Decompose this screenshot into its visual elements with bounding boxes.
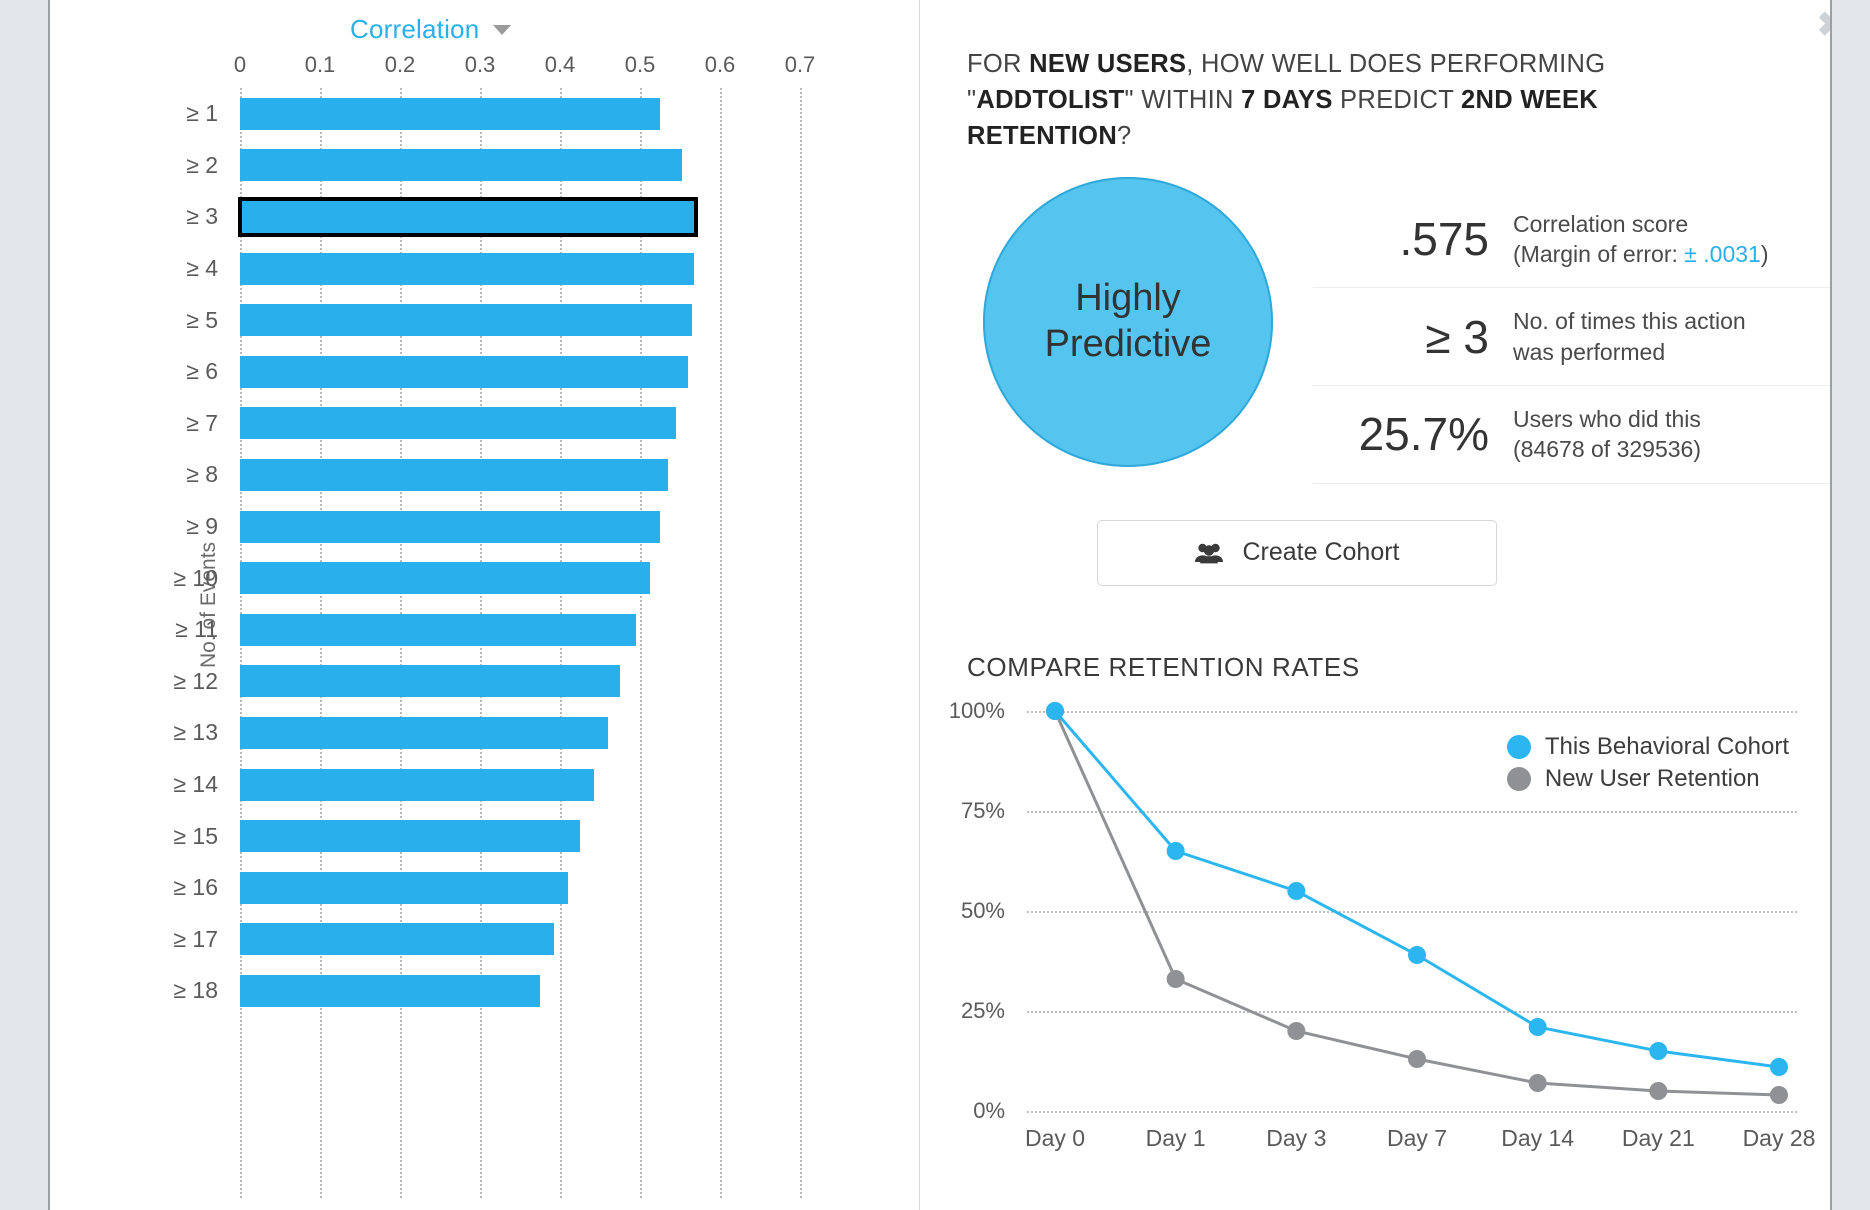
- bar-row-label: ≥ 16: [173, 874, 218, 901]
- y-axis-title-text: No. of Events: [197, 542, 221, 668]
- legend-label: New User Retention: [1545, 765, 1760, 793]
- bar-row[interactable]: ≥ 15: [240, 810, 840, 862]
- metric-selector-dropdown[interactable]: Correlation: [350, 14, 511, 45]
- bar-row-label: ≥ 8: [186, 461, 218, 488]
- retention-x-tick-label: Day 3: [1266, 1125, 1326, 1152]
- create-cohort-label: Create Cohort: [1242, 538, 1399, 567]
- legend-item[interactable]: New User Retention: [1507, 765, 1789, 793]
- legend-color-swatch: [1507, 767, 1531, 791]
- retention-gridline: [1027, 1111, 1797, 1113]
- bar-row-label: ≥ 2: [186, 152, 218, 179]
- bar[interactable]: [240, 304, 692, 336]
- retention-data-point[interactable]: [1167, 970, 1185, 988]
- bar[interactable]: [240, 665, 620, 697]
- bar-row[interactable]: ≥ 12: [240, 656, 840, 708]
- bar-row-label: ≥ 10: [173, 565, 218, 592]
- stat-description-line2: (84678 of 329536): [1513, 434, 1701, 464]
- content-area: Correlation 00.10.20.30.40.50.60.7 No. o…: [50, 0, 1870, 1210]
- x-axis-tick-label: 0.7: [785, 52, 816, 78]
- verdict-bubble: Highly Predictive: [983, 177, 1273, 467]
- metric-selector-label: Correlation: [350, 14, 479, 45]
- bar-row[interactable]: ≥ 10: [240, 552, 840, 604]
- x-axis-tick-label: 0.4: [545, 52, 576, 78]
- question-fragment-0: FOR: [967, 50, 1029, 78]
- bar-row[interactable]: ≥ 8: [240, 449, 840, 501]
- retention-data-point[interactable]: [1408, 946, 1426, 964]
- retention-data-point[interactable]: [1770, 1086, 1788, 1104]
- stat-description-line2: (Margin of error: ± .0031): [1513, 239, 1769, 269]
- bar-row-label: ≥ 9: [186, 513, 218, 540]
- left-gutter: [0, 0, 50, 1210]
- question-fragment-6: PREDICT: [1333, 86, 1461, 114]
- retention-x-tick-label: Day 21: [1622, 1125, 1695, 1152]
- bar-row-label: ≥ 7: [186, 410, 218, 437]
- retention-data-point[interactable]: [1770, 1058, 1788, 1076]
- chevron-down-icon: [493, 25, 511, 35]
- bar[interactable]: [240, 407, 676, 439]
- stat-description-line1: Users who did this: [1513, 404, 1701, 434]
- bar[interactable]: [240, 511, 660, 543]
- bar[interactable]: [240, 769, 594, 801]
- stat-margin-of-error: ± .0031: [1684, 241, 1761, 267]
- bar-row[interactable]: ≥ 9: [240, 501, 840, 553]
- retention-x-tick-label: Day 28: [1743, 1125, 1816, 1152]
- bar-row-label: ≥ 3: [186, 203, 218, 230]
- bar-row-label: ≥ 14: [173, 771, 218, 798]
- question-fragment-4: " WITHIN: [1125, 86, 1242, 114]
- bar[interactable]: [240, 872, 568, 904]
- retention-x-tick-label: Day 14: [1501, 1125, 1574, 1152]
- bar[interactable]: [238, 197, 698, 237]
- bar-row[interactable]: ≥ 14: [240, 759, 840, 811]
- bar-row[interactable]: ≥ 1: [240, 88, 840, 140]
- stat-description: Users who did this(84678 of 329536): [1513, 404, 1701, 465]
- right-gutter: [1830, 0, 1870, 1210]
- legend-label: This Behavioral Cohort: [1545, 733, 1789, 761]
- bar-row[interactable]: ≥ 11: [240, 604, 840, 656]
- bar-row-label: ≥ 13: [173, 719, 218, 746]
- bar-row-label: ≥ 6: [186, 358, 218, 385]
- bar[interactable]: [240, 975, 540, 1007]
- bar[interactable]: [240, 356, 688, 388]
- question-fragment-3: ADDTOLIST: [976, 86, 1124, 114]
- retention-x-tick-label: Day 1: [1146, 1125, 1206, 1152]
- detail-panel: ✖ FOR NEW USERS, HOW WELL DOES PERFORMIN…: [921, 0, 1870, 1210]
- bar-row[interactable]: ≥ 16: [240, 862, 840, 914]
- question-fragment-1: NEW USERS: [1029, 50, 1186, 78]
- create-cohort-button[interactable]: Create Cohort: [1097, 520, 1497, 586]
- bar-row[interactable]: ≥ 13: [240, 707, 840, 759]
- x-axis-tick-label: 0.5: [625, 52, 656, 78]
- question-fragment-5: 7 DAYS: [1241, 86, 1333, 114]
- bar[interactable]: [240, 717, 608, 749]
- stat-value: .575: [1313, 212, 1513, 266]
- bar-row[interactable]: ≥ 7: [240, 398, 840, 450]
- retention-data-point[interactable]: [1408, 1050, 1426, 1068]
- retention-data-point[interactable]: [1649, 1042, 1667, 1060]
- bar-row[interactable]: ≥ 4: [240, 243, 840, 295]
- retention-legend: This Behavioral CohortNew User Retention: [1507, 733, 1789, 797]
- x-axis-tick-label: 0.6: [705, 52, 736, 78]
- retention-data-point[interactable]: [1529, 1018, 1547, 1036]
- question-headline: FOR NEW USERS, HOW WELL DOES PERFORMING …: [967, 46, 1757, 155]
- bar[interactable]: [240, 253, 694, 285]
- correlation-bar-chart-panel: Correlation 00.10.20.30.40.50.60.7 No. o…: [50, 0, 920, 1210]
- stat-description-line1: Correlation score: [1513, 209, 1769, 239]
- stat-description: No. of times this actionwas performed: [1513, 306, 1746, 367]
- retention-data-point[interactable]: [1287, 882, 1305, 900]
- retention-data-point[interactable]: [1046, 702, 1064, 720]
- bar[interactable]: [240, 923, 554, 955]
- retention-data-point[interactable]: [1287, 1022, 1305, 1040]
- retention-data-point[interactable]: [1649, 1082, 1667, 1100]
- bar[interactable]: [240, 459, 668, 491]
- x-axis-tick-label: 0.1: [305, 52, 336, 78]
- bar-row[interactable]: ≥ 17: [240, 914, 840, 966]
- bar[interactable]: [240, 820, 580, 852]
- stat-description-line2: was performed: [1513, 337, 1746, 367]
- legend-item[interactable]: This Behavioral Cohort: [1507, 733, 1789, 761]
- bar-row[interactable]: ≥ 6: [240, 346, 840, 398]
- summary-section: Highly Predictive .575Correlation score(…: [967, 177, 1834, 484]
- question-fragment-8: ?: [1117, 122, 1131, 150]
- stat-value: ≥ 3: [1313, 310, 1513, 364]
- stat-description: Correlation score(Margin of error: ± .00…: [1513, 209, 1769, 270]
- bar-row-label: ≥ 17: [173, 926, 218, 953]
- bar-chart-bars: ≥ 1≥ 2≥ 3≥ 4≥ 5≥ 6≥ 7≥ 8≥ 9≥ 10≥ 11≥ 12≥…: [240, 88, 840, 1198]
- stat-description-line1: No. of times this action: [1513, 306, 1746, 336]
- stat-row: ≥ 3No. of times this actionwas performed: [1313, 288, 1834, 386]
- bar-row-label: ≥ 4: [186, 255, 218, 282]
- bar-row[interactable]: ≥ 2: [240, 140, 840, 192]
- users-group-icon: [1194, 542, 1224, 564]
- stat-value: 25.7%: [1313, 407, 1513, 461]
- bar-row-label: ≥ 12: [173, 668, 218, 695]
- x-axis-tick-label: 0.2: [385, 52, 416, 78]
- bar-row-label: ≥ 1: [186, 100, 218, 127]
- bar-chart-plot-area: ≥ 1≥ 2≥ 3≥ 4≥ 5≥ 6≥ 7≥ 8≥ 9≥ 10≥ 11≥ 12≥…: [240, 88, 840, 1198]
- bar-row-label: ≥ 5: [186, 307, 218, 334]
- retention-x-tick-label: Day 7: [1387, 1125, 1447, 1152]
- bar[interactable]: [240, 614, 636, 646]
- bar-row-label: ≥ 15: [173, 823, 218, 850]
- bar-row-label: ≥ 11: [175, 616, 218, 643]
- retention-data-point[interactable]: [1529, 1074, 1547, 1092]
- bar[interactable]: [240, 98, 660, 130]
- retention-x-tick-label: Day 0: [1025, 1125, 1085, 1152]
- retention-data-point[interactable]: [1167, 842, 1185, 860]
- bar[interactable]: [240, 562, 650, 594]
- bar-row-label: ≥ 18: [173, 977, 218, 1004]
- bar-row[interactable]: ≥ 18: [240, 965, 840, 1017]
- retention-line-chart: 0%25%50%75%100% Day 0Day 1Day 3Day 7Day …: [967, 711, 1797, 1111]
- stats-list: .575Correlation score(Margin of error: ±…: [1313, 191, 1834, 484]
- stat-row: .575Correlation score(Margin of error: ±…: [1313, 191, 1834, 289]
- verdict-label: Highly Predictive: [1018, 276, 1238, 367]
- stat-row: 25.7%Users who did this(84678 of 329536): [1313, 386, 1834, 484]
- compare-retention-title: COMPARE RETENTION RATES: [967, 652, 1834, 683]
- x-axis-tick-label: 0.3: [465, 52, 496, 78]
- bar-row[interactable]: ≥ 3: [240, 191, 840, 243]
- bar-row[interactable]: ≥ 5: [240, 294, 840, 346]
- bar[interactable]: [240, 149, 682, 181]
- legend-color-swatch: [1507, 735, 1531, 759]
- app-root: Correlation 00.10.20.30.40.50.60.7 No. o…: [0, 0, 1870, 1210]
